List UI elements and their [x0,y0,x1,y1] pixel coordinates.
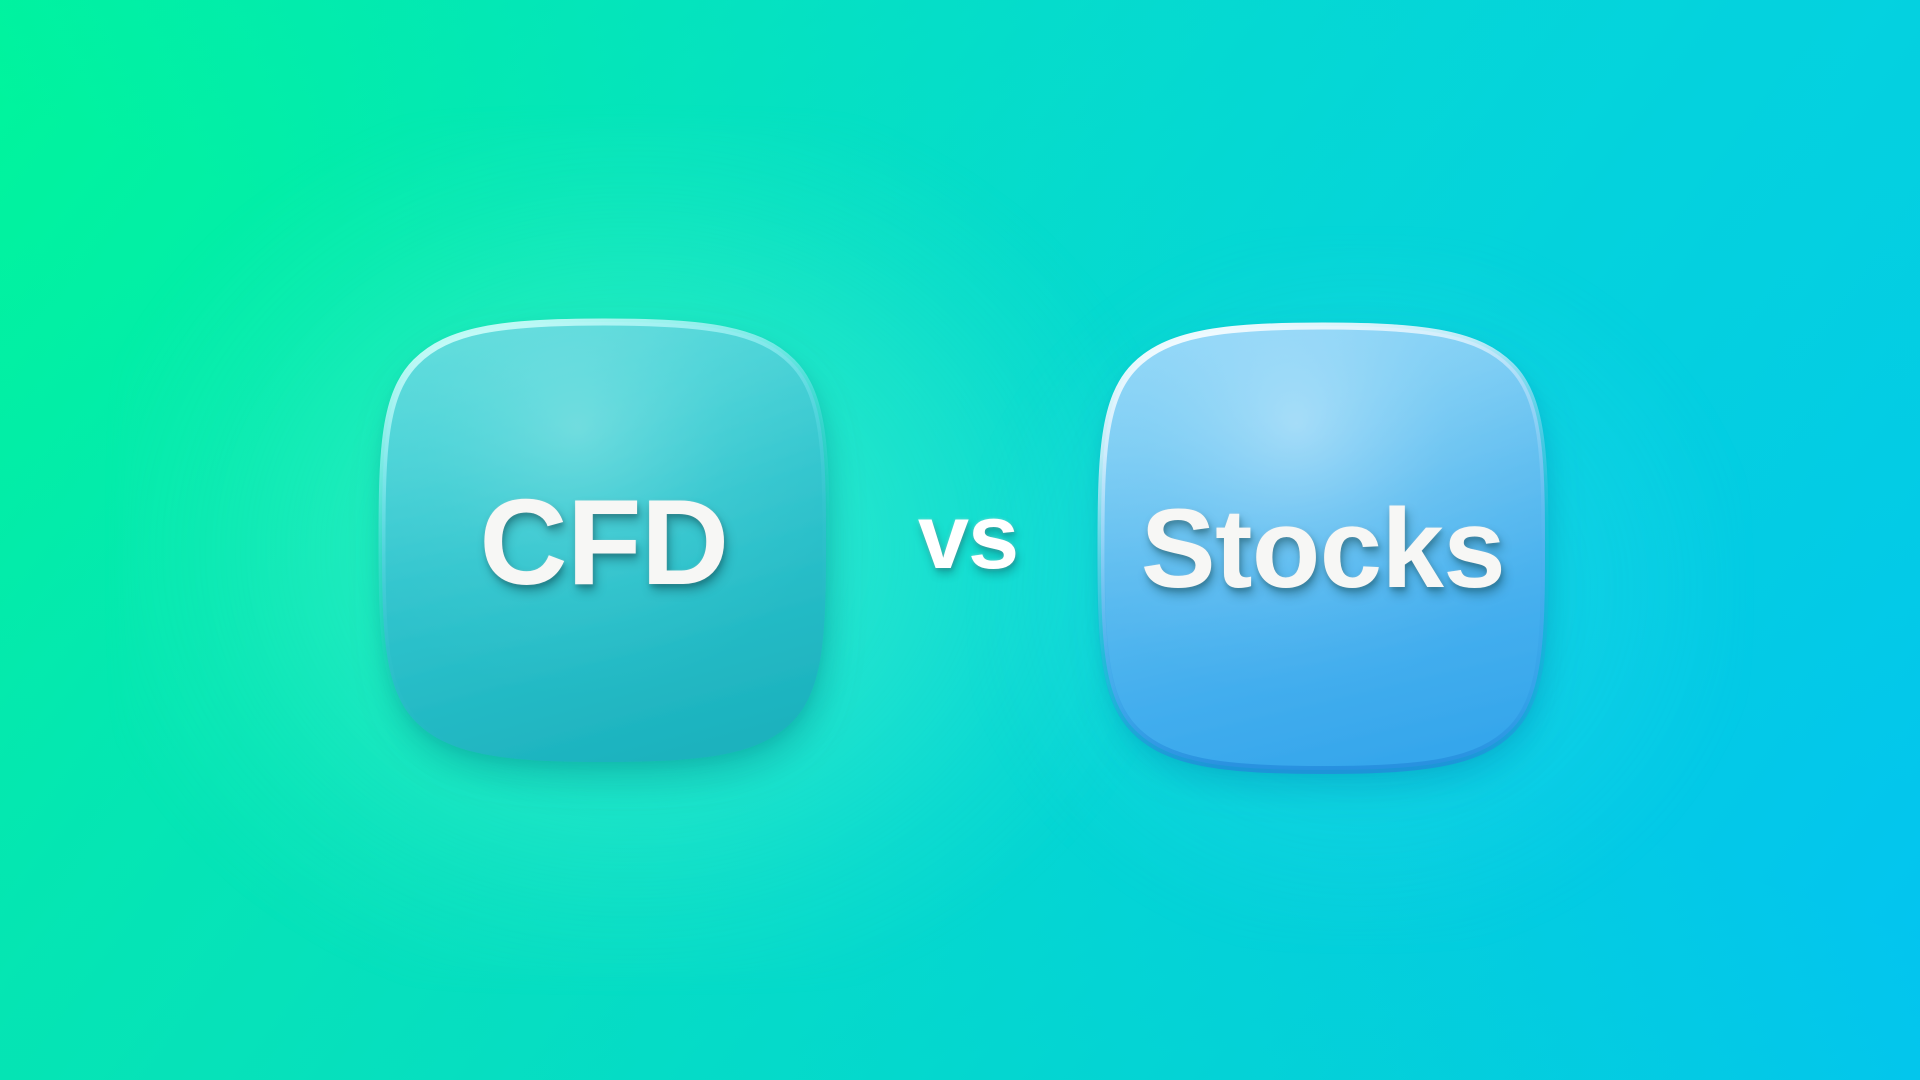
comparison-row: CFD vs [0,0,1920,1080]
badge-stocks-label: Stocks [1098,322,1548,782]
badge-stocks[interactable]: Stocks [1098,322,1548,774]
badge-cfd[interactable]: CFD [378,318,830,766]
comparison-graphic: CFD vs [0,0,1920,1080]
versus-separator: vs [848,452,1088,622]
badge-cfd-label: CFD [378,318,830,772]
